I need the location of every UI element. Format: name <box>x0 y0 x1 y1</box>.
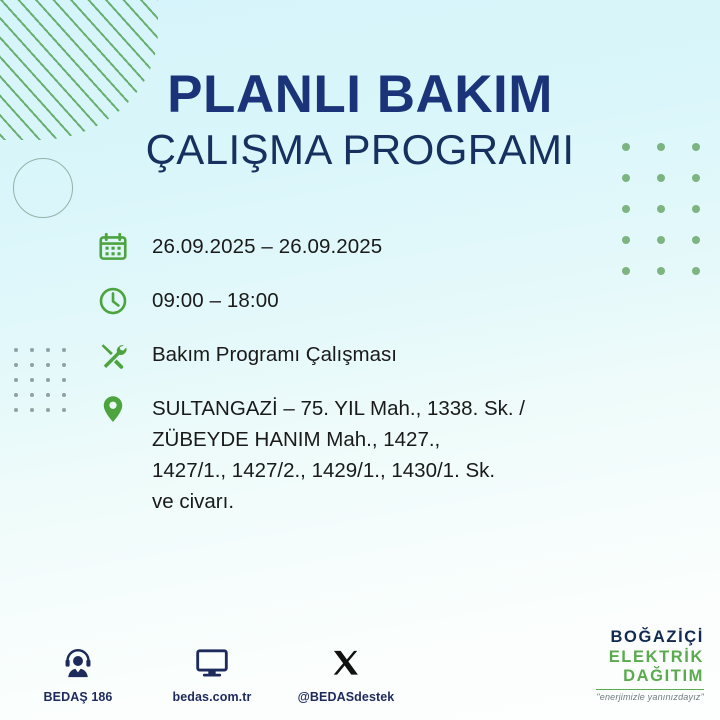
work-type-text: Bakım Programı Çalışması <box>152 336 397 370</box>
footer-label-social: @BEDASdestek <box>298 690 395 704</box>
dot-grid-left-decoration <box>14 348 78 423</box>
detail-rows: 26.09.2025 – 26.09.2025 09:00 – 18:00 <box>98 228 658 533</box>
footer-label-call-center: BEDAŞ 186 <box>44 690 113 704</box>
footer-item-website[interactable]: bedas.com.tr <box>162 643 262 706</box>
date-range-text: 26.09.2025 – 26.09.2025 <box>152 228 382 262</box>
detail-row-location: SULTANGAZİ – 75. YIL Mah., 1338. Sk. / Z… <box>98 390 658 517</box>
tools-icon <box>98 336 152 374</box>
location-pin-icon <box>98 390 152 428</box>
calendar-icon <box>98 228 152 266</box>
poster-title: PLANLI BAKIM <box>0 68 720 121</box>
location-text: SULTANGAZİ – 75. YIL Mah., 1338. Sk. / Z… <box>152 390 525 517</box>
brand-logo: BOĞAZİÇİ ELEKTRİK DAĞITIM "enerjimizle y… <box>596 629 704 702</box>
x-twitter-icon <box>296 643 396 683</box>
detail-row-time: 09:00 – 18:00 <box>98 282 658 320</box>
footer: BEDAŞ 186 bedas.com.tr <box>0 610 720 720</box>
detail-row-date: 26.09.2025 – 26.09.2025 <box>98 228 658 266</box>
headset-agent-icon <box>28 643 128 683</box>
time-range-text: 09:00 – 18:00 <box>152 282 279 316</box>
footer-label-website: bedas.com.tr <box>172 690 251 704</box>
detail-row-work-type: Bakım Programı Çalışması <box>98 336 658 374</box>
planned-maintenance-poster: PLANLI BAKIM ÇALIŞMA PROGRAMI <box>0 0 720 720</box>
poster-subtitle: ÇALIŞMA PROGRAMI <box>0 128 720 172</box>
brand-divider <box>596 689 704 691</box>
brand-line-elektrik: ELEKTRİK <box>596 649 704 666</box>
brand-line-dagitim: DAĞITIM <box>596 668 704 685</box>
footer-item-call-center[interactable]: BEDAŞ 186 <box>28 643 128 706</box>
brand-line-bogazici: BOĞAZİÇİ <box>596 629 704 646</box>
brand-tagline: "enerjimizle yanınızdayız" <box>596 693 704 702</box>
clock-icon <box>98 282 152 320</box>
monitor-icon <box>162 643 262 683</box>
footer-item-social[interactable]: @BEDASdestek <box>296 643 396 706</box>
footer-contact-items: BEDAŞ 186 bedas.com.tr <box>28 643 396 706</box>
